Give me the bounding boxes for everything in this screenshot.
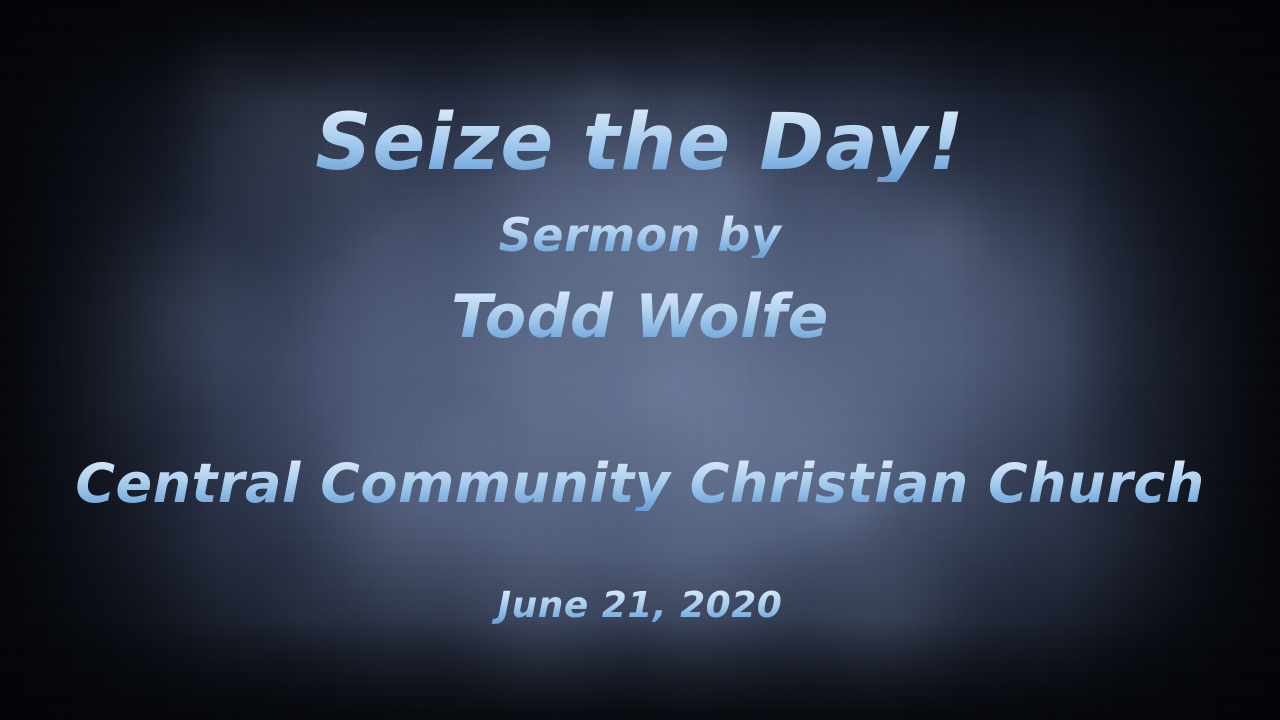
speaker-name: Todd Wolfe bbox=[0, 287, 1280, 347]
church-name: Central Community Christian Church bbox=[0, 457, 1280, 511]
sermon-title-slide: Seize the Day! Sermon by Todd Wolfe Cent… bbox=[0, 0, 1280, 720]
sermon-by-label: Sermon by bbox=[0, 212, 1280, 258]
sermon-title: Seize the Day! bbox=[0, 104, 1280, 182]
sermon-date: June 21, 2020 bbox=[0, 588, 1280, 624]
slide-text-content: Seize the Day! Sermon by Todd Wolfe Cent… bbox=[0, 0, 1280, 720]
